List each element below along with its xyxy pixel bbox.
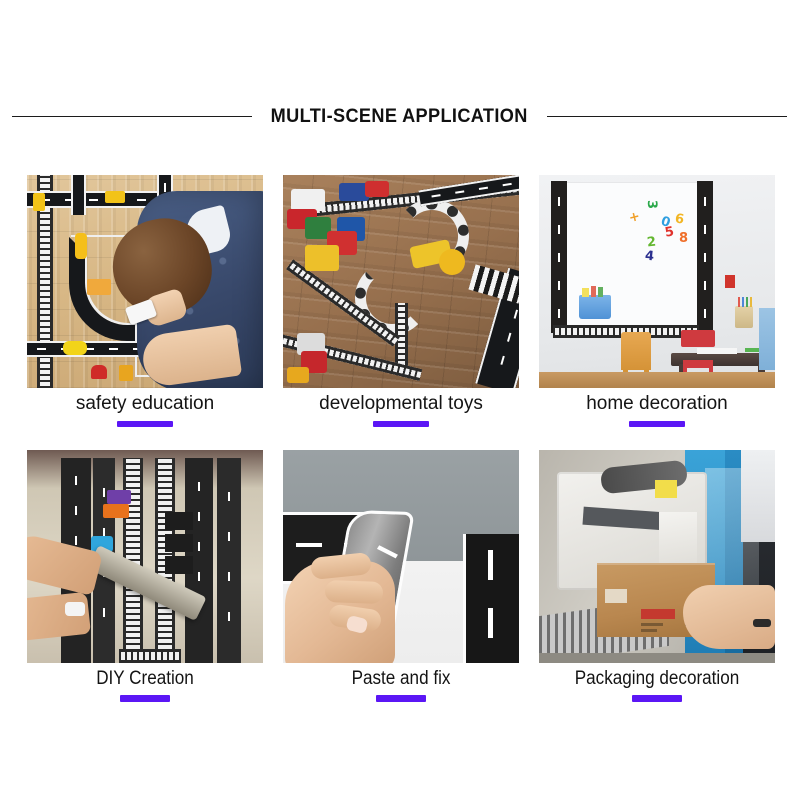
accent-underline	[120, 695, 170, 702]
scene-card-home-decoration[interactable]: + 3 0 6 5 8 2 4	[539, 175, 775, 403]
scene-caption-developmental-toys: developmental toys	[283, 393, 519, 427]
scene-card-safety-education[interactable]: safety education	[27, 175, 263, 403]
accent-underline	[376, 695, 426, 702]
section-header: MULTI-SCENE APPLICATION	[0, 96, 800, 136]
scene-grid: safety education	[27, 175, 775, 740]
scene-card-packaging-decoration[interactable]: Packaging decoration	[539, 450, 775, 678]
blue-cabinet	[759, 308, 775, 370]
header-rule-right	[547, 116, 787, 117]
scene-image-packaging-decoration	[539, 450, 775, 663]
scene-image-safety-education	[27, 175, 263, 388]
scene-card-developmental-toys[interactable]: developmental toys	[283, 175, 519, 403]
accent-underline	[632, 695, 682, 702]
scene-label: home decoration	[539, 393, 775, 415]
scene-caption-safety-education: safety education	[27, 393, 263, 427]
scene-label: safety education	[27, 393, 263, 415]
scene-card-paste-and-fix[interactable]: Paste and fix	[283, 450, 519, 678]
wall-pocket	[579, 295, 611, 319]
scene-caption-home-decoration: home decoration	[539, 393, 775, 427]
scene-image-developmental-toys	[283, 175, 519, 388]
scene-caption-paste-and-fix: Paste and fix	[283, 668, 519, 702]
scene-label: DIY Creation	[39, 668, 251, 690]
scene-label: developmental toys	[283, 393, 519, 415]
scene-caption-packaging-decoration: Packaging decoration	[539, 668, 775, 702]
scene-image-home-decoration: + 3 0 6 5 8 2 4	[539, 175, 775, 388]
accent-underline	[629, 421, 685, 427]
poster-page: MULTI-SCENE APPLICATION	[0, 0, 800, 800]
scene-label: Paste and fix	[295, 668, 507, 690]
scene-card-diy-creation[interactable]: DIY Creation	[27, 450, 263, 678]
scene-image-diy-creation	[27, 450, 263, 663]
pencil-cup	[735, 306, 753, 328]
scene-label: Packaging decoration	[551, 668, 763, 690]
wall-number-4: 4	[644, 249, 655, 265]
wall-number-8: 8	[679, 231, 688, 246]
accent-underline	[117, 421, 173, 427]
page-title: MULTI-SCENE APPLICATION	[263, 105, 537, 128]
accent-underline	[373, 421, 429, 427]
header-rule-left	[12, 116, 252, 117]
wall-number-3: 3	[644, 200, 659, 210]
scene-image-paste-and-fix	[283, 450, 519, 663]
red-chair	[681, 330, 715, 378]
wall-sign	[725, 275, 735, 288]
scene-caption-diy-creation: DIY Creation	[27, 668, 263, 702]
